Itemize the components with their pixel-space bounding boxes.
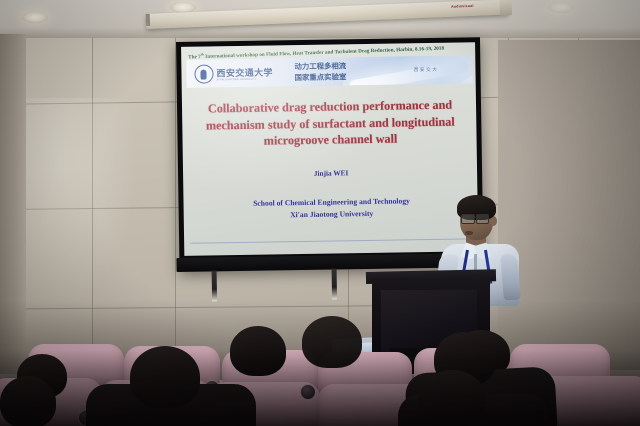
slide-divider-line (190, 238, 472, 243)
audience-head (230, 326, 286, 376)
slide-surface: The 7th International workshop on Fluid … (181, 42, 478, 256)
screen-strap (212, 270, 217, 301)
wall-light-glare (18, 98, 138, 308)
audience-head (418, 370, 486, 426)
ceiling-downlight (22, 12, 48, 23)
glasses-icon (461, 214, 475, 224)
seat-number-knob (300, 384, 316, 400)
housing-bracket (146, 14, 150, 26)
laboratory-name-cn: 动力工程多相流 国家重点实验室 (294, 61, 346, 83)
presenter-mouth (465, 231, 473, 235)
screen-strap (332, 269, 337, 300)
housing-brand-label: Audiovisual (451, 4, 474, 9)
slide-author: Jinjia WEI (195, 166, 467, 179)
conference-room-photo: Audiovisual The 7th International worksh… (0, 0, 640, 426)
slide-title: Collaborative drag reduction performance… (194, 96, 467, 150)
band-secondary-logo: 西安交大 (414, 67, 439, 73)
slide-logo-band: 西安交通大学 XI'AN JIAOTONG UNIVERSITY 动力工程多相流… (186, 55, 472, 87)
audience-head (130, 346, 200, 408)
ceiling-downlight (548, 2, 574, 13)
glasses-icon (476, 214, 489, 224)
university-seal-icon (194, 64, 213, 83)
audience-head (0, 376, 56, 426)
glasses-bridge (473, 217, 477, 218)
audience-head (302, 316, 362, 368)
audience-seating (0, 318, 640, 426)
university-name-en: XI'AN JIAOTONG UNIVERSITY (217, 78, 257, 82)
slide-affiliation: School of Chemical Engineering and Techn… (195, 194, 467, 222)
housing-end-cap (499, 0, 512, 16)
